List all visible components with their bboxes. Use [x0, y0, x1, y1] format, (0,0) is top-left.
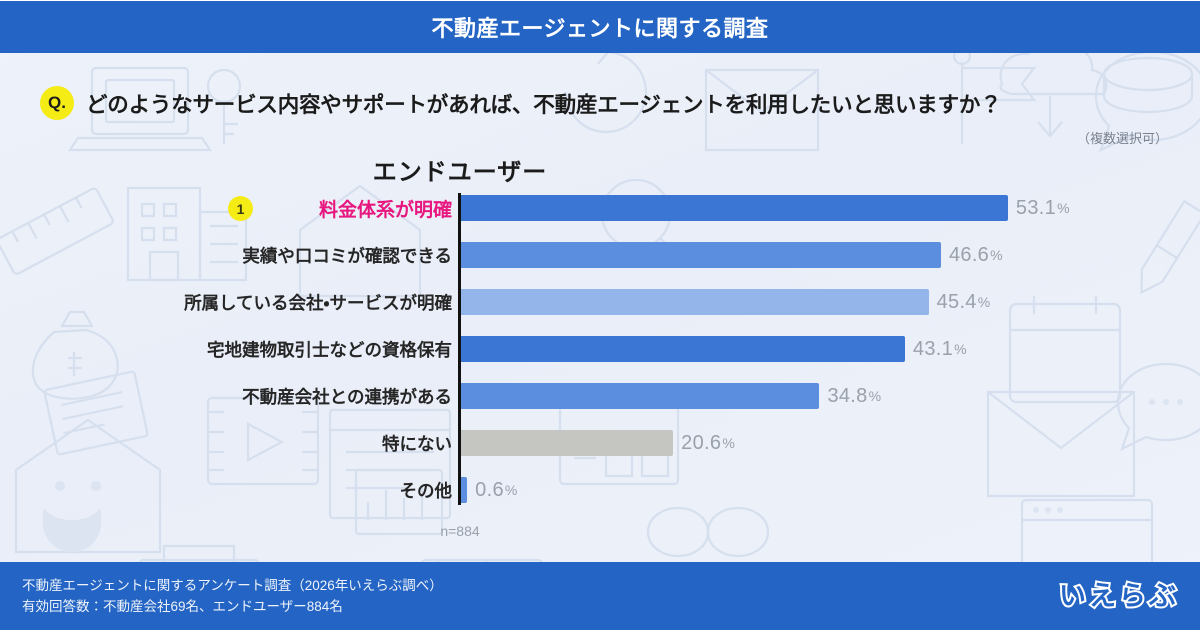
bar-fill [461, 430, 673, 456]
question-row: Q. どのようなサービス内容やサポートがあれば、不動産エージェントを利用したいと… [40, 86, 1001, 120]
question-badge: Q. [40, 86, 74, 120]
bar-value-unit: % [978, 294, 991, 310]
bar-value-number: 34.8 [827, 385, 867, 408]
bar-label: 宅地建物取引士などの資格保有 [28, 337, 458, 362]
footer-line-1: 不動産エージェントに関するアンケート調査（2026年いえらぶ調べ） [22, 575, 443, 596]
bar-fill [461, 336, 905, 362]
bar-label: 実績や口コミが確認できる [28, 243, 458, 268]
bar-value-unit: % [505, 482, 518, 498]
bar-value-unit: % [954, 341, 967, 357]
bar-label: 特にない [28, 431, 458, 456]
bar-value: 20.6% [681, 428, 735, 458]
bar-chart: 1 料金体系が明確 53.1% 実績や口コミが確認できる 46.6% 所属してい… [0, 193, 1200, 513]
bar-value-unit: % [990, 247, 1003, 263]
bar-value: 43.1% [913, 334, 967, 364]
bar-value-number: 53.1 [1016, 197, 1056, 220]
footer-bar: 不動産エージェントに関するアンケート調査（2026年いえらぶ調べ） 有効回答数：… [0, 562, 1200, 630]
bar-label: 不動産会社との連携がある [28, 384, 458, 409]
chart-row: 所属している会社・サービスが明確 45.4% [0, 287, 1200, 317]
bar-value: 45.4% [937, 287, 991, 317]
bar-value-number: 20.6 [681, 432, 721, 455]
bar-value-number: 46.6 [949, 244, 989, 267]
bar-value-unit: % [722, 435, 735, 451]
bar-value-number: 43.1 [913, 338, 953, 361]
bar-fill [461, 289, 929, 315]
logo-char: ぶ [1149, 583, 1176, 610]
footer-text: 不動産エージェントに関するアンケート調査（2026年いえらぶ調べ） 有効回答数：… [22, 575, 443, 617]
bar-fill [461, 195, 1008, 221]
page-root: 不動産エージェントに関する調査 Q. どのようなサービス内容やサポートがあれば、… [0, 0, 1200, 630]
chart-row: 1 料金体系が明確 53.1% [0, 193, 1200, 223]
logo-char: ら [1119, 583, 1146, 610]
question-note: （複数選択可） [1077, 128, 1168, 147]
bar-label: 料金体系が明確 [28, 195, 458, 222]
bar-label: その他 [28, 478, 458, 503]
bar-value-number: 0.6 [475, 479, 504, 502]
footer-line-2: 有効回答数：不動産会社69名、エンドユーザー884名 [22, 596, 443, 617]
sample-size-note: n=884 [0, 523, 1060, 539]
bar-value: 34.8% [827, 381, 881, 411]
bar-fill [461, 242, 941, 268]
bar-value: 53.1% [1016, 193, 1070, 223]
bar-value-unit: % [1057, 200, 1070, 216]
brand-logo: い え ら ぶ [1059, 583, 1176, 610]
chart-title: エンドユーザー [0, 152, 1060, 187]
bar-value-unit: % [869, 388, 882, 404]
chart-row: その他 0.6% [0, 475, 1200, 505]
bar-fill [461, 477, 467, 503]
bar-label: 所属している会社・サービスが明確 [28, 290, 458, 315]
bar-value: 0.6% [475, 475, 517, 505]
chart-row: 不動産会社との連携がある 34.8% [0, 381, 1200, 411]
question-text: どのようなサービス内容やサポートがあれば、不動産エージェントを利用したいと思いま… [86, 88, 1001, 119]
logo-char: え [1089, 583, 1116, 610]
chart-row: 特にない 20.6% [0, 428, 1200, 458]
chart-row: 実績や口コミが確認できる 46.6% [0, 240, 1200, 270]
bar-fill [461, 383, 819, 409]
logo-char: い [1059, 583, 1086, 610]
bar-value: 46.6% [949, 240, 1003, 270]
header-bar: 不動産エージェントに関する調査 [0, 0, 1200, 53]
chart-row: 宅地建物取引士などの資格保有 43.1% [0, 334, 1200, 364]
page-title: 不動産エージェントに関する調査 [431, 11, 768, 43]
bar-value-number: 45.4 [937, 291, 977, 314]
